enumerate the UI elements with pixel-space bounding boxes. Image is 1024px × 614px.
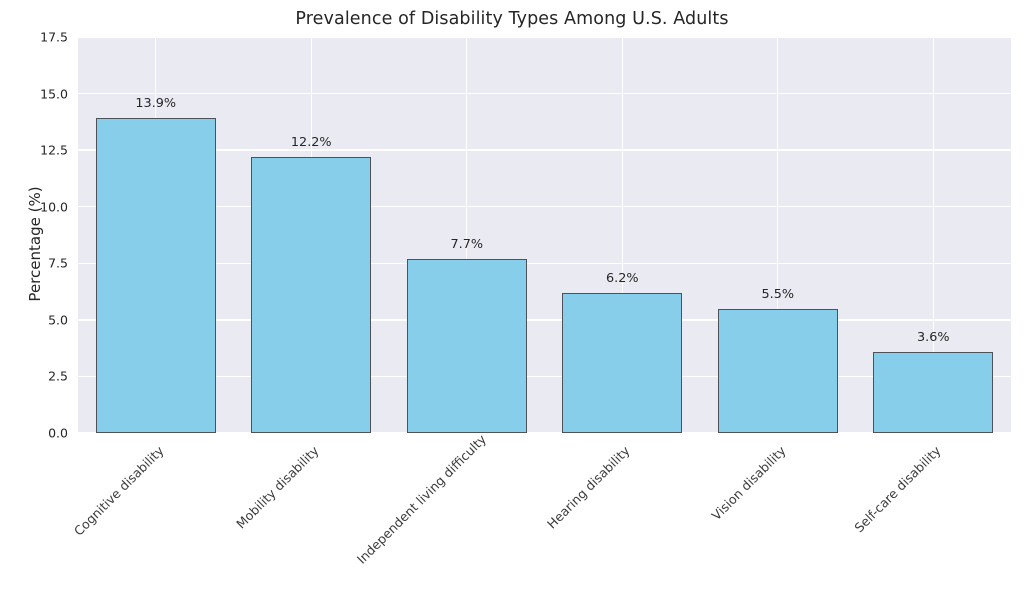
y-axis-label-wrap: Percentage (%) [0,0,40,614]
chart-figure: Prevalence of Disability Types Among U.S… [0,0,1024,614]
y-axis-label: Percentage (%) [26,104,44,384]
